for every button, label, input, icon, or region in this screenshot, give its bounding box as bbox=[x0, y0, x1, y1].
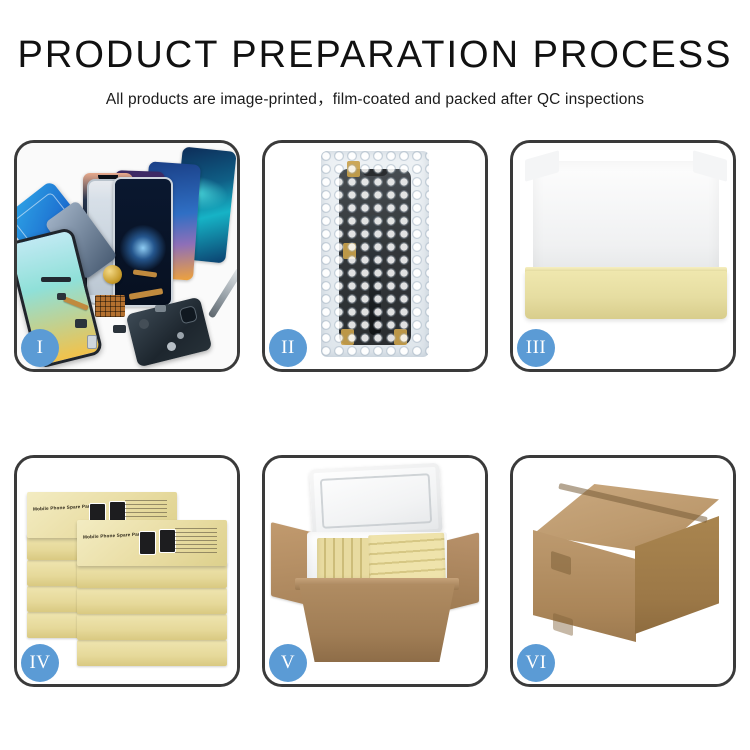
panel-step-5[interactable]: V bbox=[262, 455, 488, 687]
tape-strip bbox=[347, 161, 360, 177]
styrofoam-lid bbox=[309, 463, 442, 540]
tape-strip bbox=[394, 329, 407, 345]
stacked-box bbox=[77, 640, 227, 666]
box-window bbox=[139, 531, 156, 555]
component-chip bbox=[87, 335, 97, 349]
component-chip bbox=[57, 293, 66, 300]
box-stack: Mobile Phone Spare Parts Mobile Phone Sp… bbox=[27, 476, 233, 672]
stacked-box-top: Mobile Phone Spare Parts bbox=[77, 520, 227, 566]
stacked-box bbox=[77, 588, 227, 614]
step-badge-3: III bbox=[517, 329, 555, 367]
step-badge-4: IV bbox=[21, 644, 59, 682]
tape-strip bbox=[341, 329, 354, 345]
yellow-box-tray bbox=[525, 271, 727, 319]
header: PRODUCT PREPARATION PROCESS All products… bbox=[0, 0, 750, 109]
bubble-wrap-bag bbox=[321, 151, 429, 357]
wrapped-cable bbox=[369, 215, 381, 335]
tape-strip bbox=[343, 243, 356, 259]
carton-body bbox=[299, 584, 455, 662]
panel-step-2[interactable]: II bbox=[262, 140, 488, 372]
component-chip bbox=[113, 325, 126, 333]
foam-lid bbox=[533, 161, 719, 281]
box-spec-lines bbox=[175, 528, 217, 554]
speaker-icon bbox=[103, 265, 122, 284]
screwdriver-icon bbox=[208, 267, 237, 318]
step-badge-6: VI bbox=[517, 644, 555, 682]
component-chip bbox=[155, 305, 166, 312]
component-chip bbox=[75, 319, 87, 328]
stacked-box bbox=[77, 614, 227, 640]
panel-step-4[interactable]: Mobile Phone Spare Parts Mobile Phone Sp… bbox=[14, 455, 240, 687]
step-badge-1: I bbox=[21, 329, 59, 367]
box-label-text: Mobile Phone Spare Parts bbox=[83, 531, 145, 539]
box-window bbox=[159, 529, 176, 553]
panel-step-3[interactable]: III bbox=[510, 140, 736, 372]
panel-step-6[interactable]: VI bbox=[510, 455, 736, 687]
process-grid: I II III bbox=[14, 140, 736, 687]
page-subtitle: All products are image-printed，film-coat… bbox=[0, 87, 750, 109]
contact-grid-icon bbox=[95, 295, 125, 317]
phone-glass-burst bbox=[113, 177, 173, 307]
box-label-text: Mobile Phone Spare Parts bbox=[33, 503, 95, 511]
component-chip bbox=[139, 319, 149, 329]
step-badge-5: V bbox=[269, 644, 307, 682]
phone-back-housing bbox=[126, 297, 213, 368]
panel-step-1[interactable]: I bbox=[14, 140, 240, 372]
page-title: PRODUCT PREPARATION PROCESS bbox=[0, 36, 750, 76]
screw-icon bbox=[177, 332, 184, 339]
step-badge-2: II bbox=[269, 329, 307, 367]
screw-icon bbox=[167, 342, 176, 351]
antenna-strip-icon bbox=[41, 277, 71, 282]
